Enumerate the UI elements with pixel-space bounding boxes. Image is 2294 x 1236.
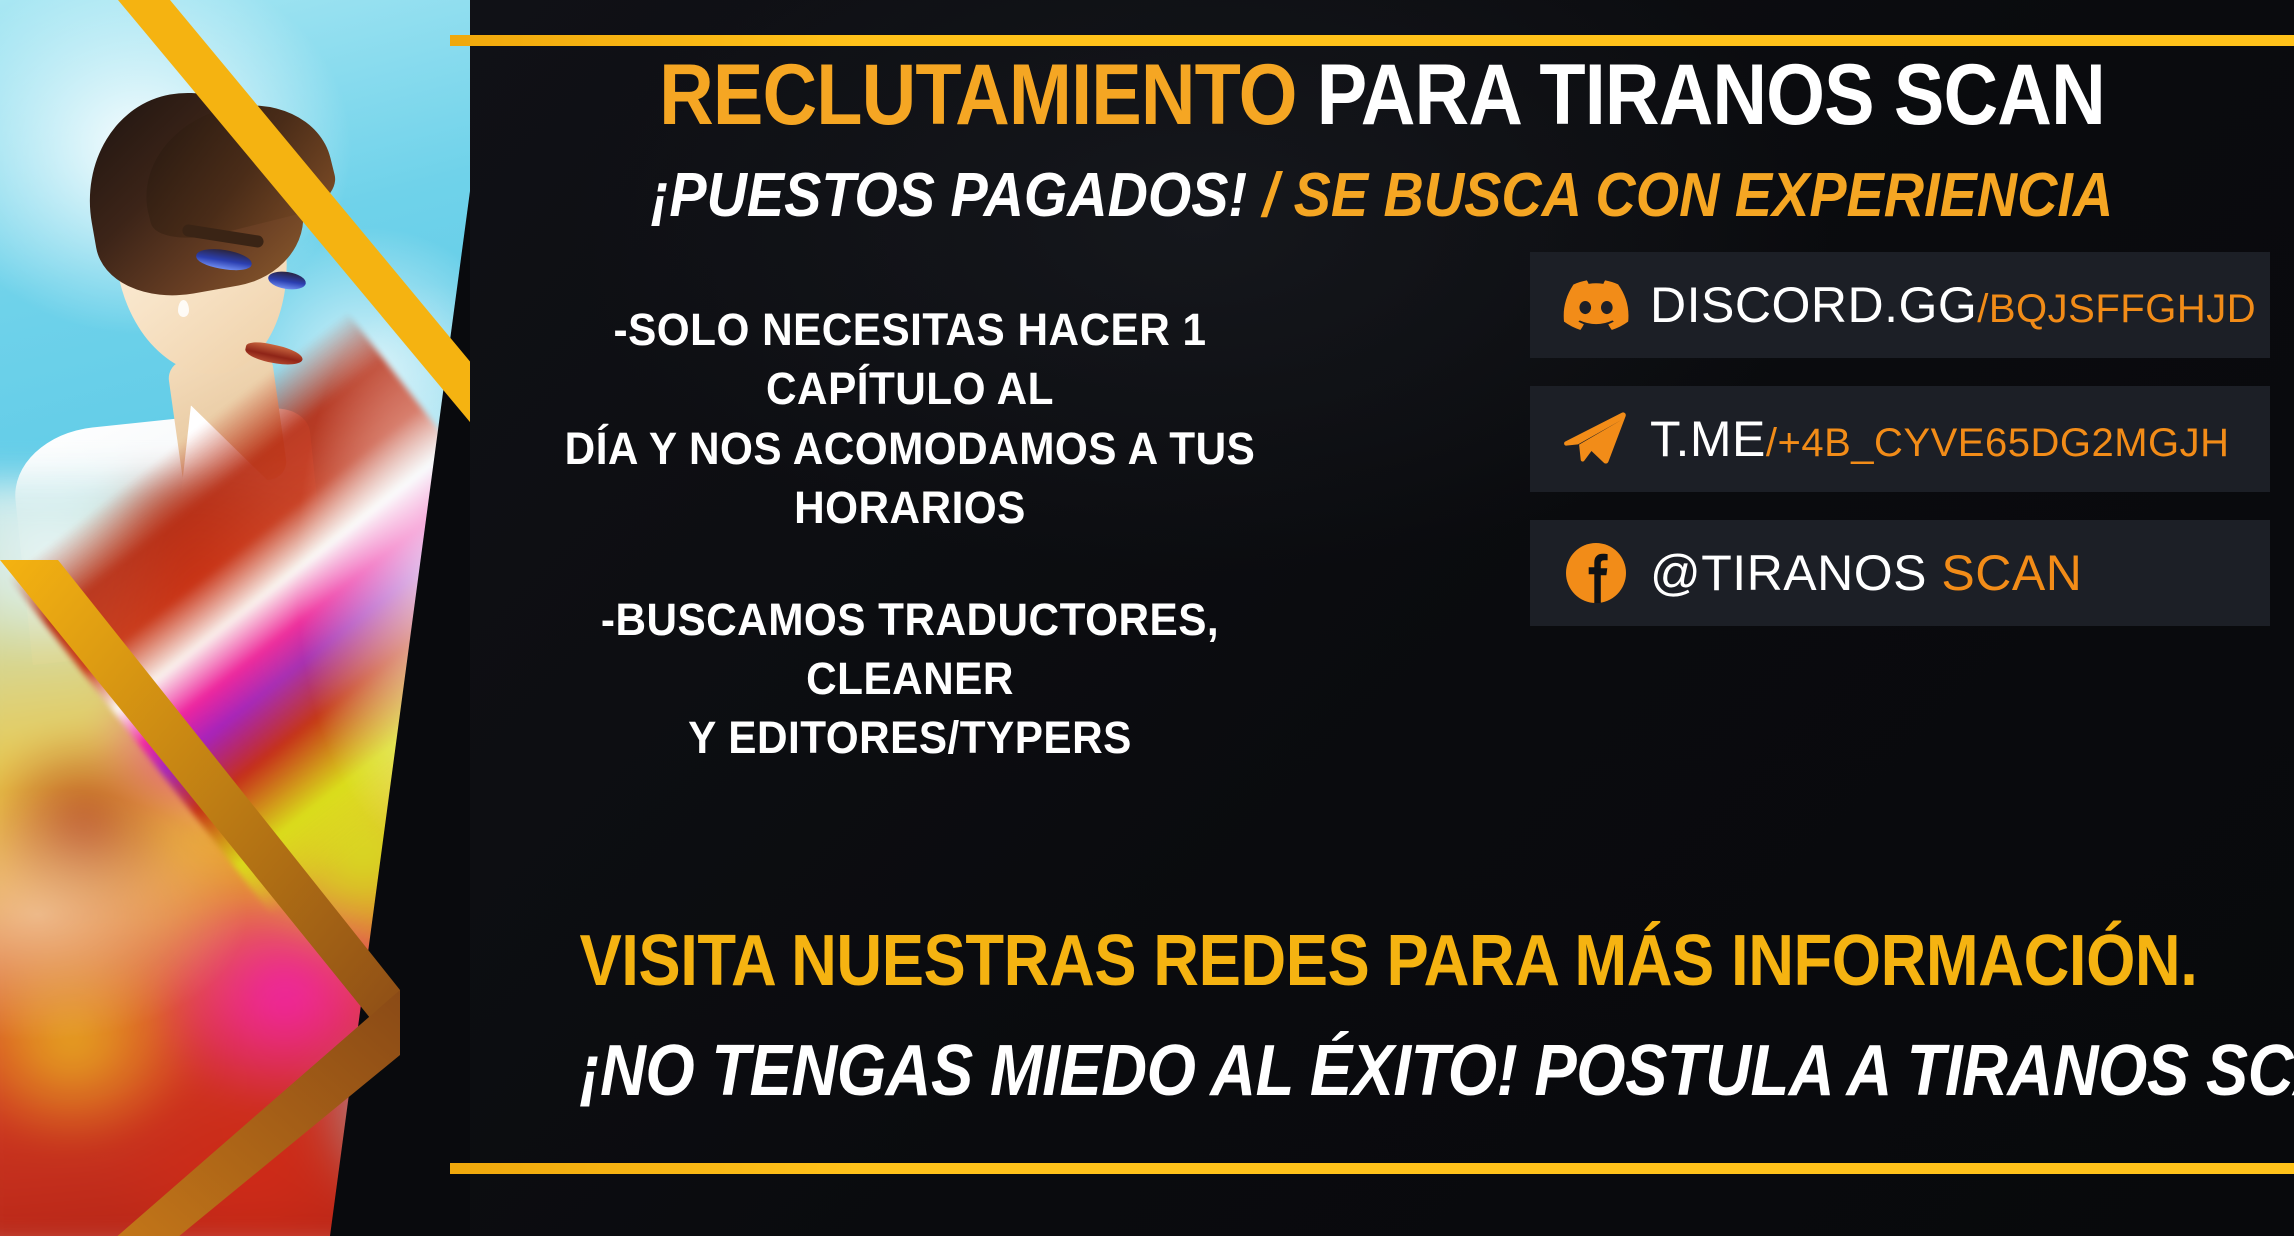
discord-icon [1558,272,1634,338]
contact-card-telegram[interactable]: T.ME/+4B_CYVE65DG2MGJH [1530,386,2270,492]
subtitle-paid: ¡PUESTOS PAGADOS! [651,161,1247,230]
facebook-handle-suffix: SCAN [1927,545,2082,601]
bullet-2-line-2: Y EDITORES/TYPERS [515,708,1305,767]
top-gold-rule [450,35,2294,46]
recruitment-banner: RECLUTAMIENTO PARA TIRANOS SCAN ¡PUESTOS… [0,0,2294,1236]
discord-invite-code: /BQJSFFGHJD [1977,287,2256,331]
facebook-card-label: @TIRANOS SCAN [1650,544,2082,602]
discord-card-label: DISCORD.GG/BQJSFFGHJD [1650,276,2256,334]
bullet-1-line-2: DÍA Y NOS ACOMODAMOS A TUS HORARIOS [515,419,1305,538]
title-highlight: RECLUTAMIENTO [659,47,1296,143]
call-to-action: VISITA NUESTRAS REDES PARA MÁS INFORMACI… [579,920,2184,1112]
title-rest: PARA TIRANOS SCAN [1297,47,2105,143]
bullet-spacer [515,538,1305,590]
telegram-card-label: T.ME/+4B_CYVE65DG2MGJH [1650,410,2230,468]
cta-line-1: VISITA NUESTRAS REDES PARA MÁS INFORMACI… [579,920,2184,1002]
contact-cards: DISCORD.GG/BQJSFFGHJD T.ME/+4B_CYVE65DG2… [1530,252,2270,654]
bottom-gold-rule [450,1163,2294,1174]
cta-line-2: ¡NO TENGAS MIEDO AL ÉXITO! POSTULA A TIR… [579,1030,2184,1112]
content-area: RECLUTAMIENTO PARA TIRANOS SCAN ¡PUESTOS… [470,0,2294,1236]
telegram-icon [1558,406,1634,472]
character-sweat-drop [178,300,189,317]
facebook-handle: @TIRANOS [1650,545,1927,601]
subtitle-experience: / SE BUSCA CON EXPERIENCIA [1247,161,2113,230]
bullet-2-line-1: -BUSCAMOS TRADUCTORES, CLEANER [515,590,1305,709]
telegram-invite-code: /+4B_CYVE65DG2MGJH [1766,421,2230,465]
page-title: RECLUTAMIENTO PARA TIRANOS SCAN [579,52,2184,140]
subtitle: ¡PUESTOS PAGADOS! / SE BUSCA CON EXPERIE… [561,160,2203,231]
contact-card-discord[interactable]: DISCORD.GG/BQJSFFGHJD [1530,252,2270,358]
contact-card-facebook[interactable]: @TIRANOS SCAN [1530,520,2270,626]
discord-domain: DISCORD.GG [1650,277,1977,333]
bullet-1-line-1: -SOLO NECESITAS HACER 1 CAPÍTULO AL [515,300,1305,419]
telegram-domain: T.ME [1650,411,1766,467]
facebook-icon [1558,540,1634,606]
requirements-list: -SOLO NECESITAS HACER 1 CAPÍTULO AL DÍA … [515,300,1305,768]
